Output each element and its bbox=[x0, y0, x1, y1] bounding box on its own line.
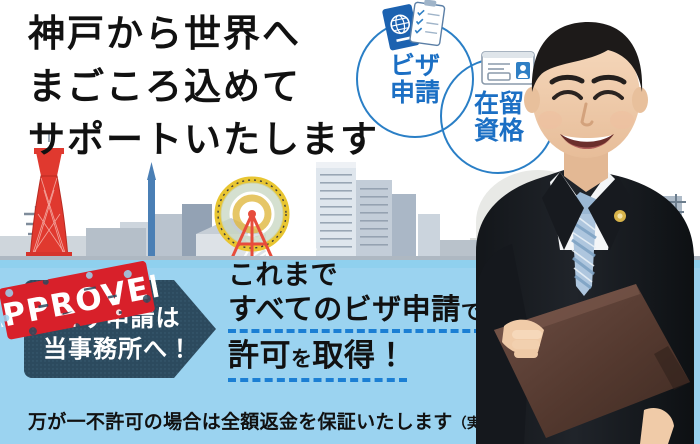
circle-visa-label-line-1: ビザ bbox=[368, 52, 462, 79]
result-message-line-2: すべてのビザ申請で bbox=[228, 292, 482, 334]
headline-line-3: サポートいたします bbox=[28, 114, 379, 167]
result-message-line-3-main: 許可 bbox=[228, 338, 291, 374]
result-message-line-3-tail: 取得！ bbox=[313, 338, 408, 374]
result-message-line-3: 許可を取得！ bbox=[228, 338, 407, 382]
arrow-banner-line-2: 当事務所へ！ bbox=[38, 334, 198, 366]
result-message-line-2-main: すべてのビザ申請 bbox=[228, 292, 461, 326]
result-message: これまで すべてのビザ申請で 許可を取得！ bbox=[228, 260, 482, 382]
headline: 神戸から世界へ まごころ込めて サポートいたします bbox=[28, 8, 379, 167]
circle-visa-label: ビザ 申請 bbox=[368, 52, 462, 106]
businessman-photo bbox=[468, 0, 700, 444]
result-message-line-3-particle: を bbox=[291, 347, 313, 371]
visa-consultation-banner: 神戸から世界へ まごころ込めて サポートいたします bbox=[0, 0, 700, 444]
passport-clipboard-icon bbox=[378, 0, 450, 54]
refund-disclaimer-main: 万が一不許可の場合は全額返金を保証いたします bbox=[28, 411, 453, 433]
circle-visa-label-line-2: 申請 bbox=[368, 79, 462, 106]
result-message-line-1: これまで bbox=[228, 260, 482, 292]
headline-line-1: 神戸から世界へ bbox=[28, 8, 379, 61]
headline-line-2: まごころ込めて bbox=[28, 61, 379, 114]
